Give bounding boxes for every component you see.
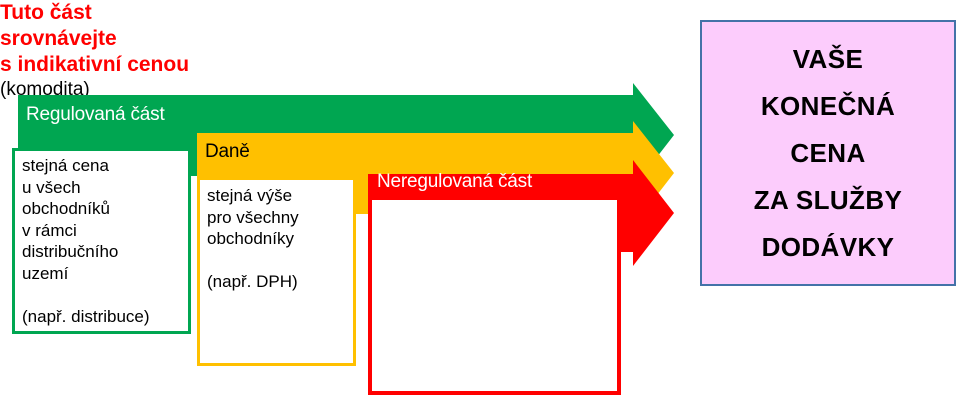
final-price-line-3: CENA — [790, 130, 865, 177]
diagram-canvas: Regulovaná část Daně Neregulovaná část s… — [0, 0, 968, 417]
arrow-taxes-label: Daně — [205, 142, 250, 161]
note-box-unregulated — [368, 196, 621, 395]
final-price-line-5: DODÁVKY — [762, 224, 895, 271]
note-text-taxes: stejná výše pro všechny obchodníky (např… — [207, 185, 299, 293]
arrow-unregulated-label: Neregulovaná část — [377, 172, 532, 191]
final-price-box: VAŠE KONEČNÁ CENA ZA SLUŽBY DODÁVKY — [700, 20, 956, 286]
arrow-regulated-label: Regulovaná část — [26, 105, 165, 124]
final-price-line-4: ZA SLUŽBY — [754, 177, 903, 224]
note-text-regulated: stejná cena u všech obchodníků v rámci d… — [22, 155, 150, 327]
final-price-line-2: KONEČNÁ — [761, 83, 895, 130]
final-price-line-1: VAŠE — [793, 36, 863, 83]
